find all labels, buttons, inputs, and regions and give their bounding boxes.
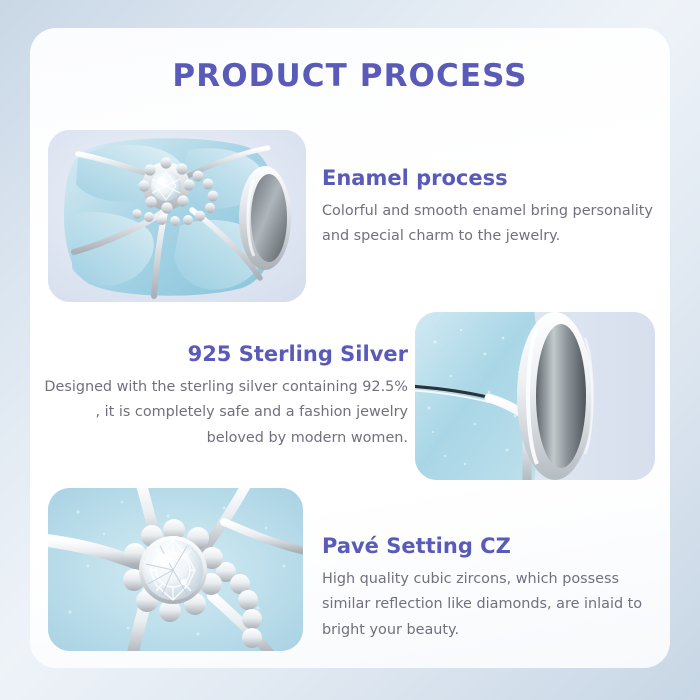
infographic-stage: PRODUCT PROCESS [0, 0, 700, 700]
heading-enamel: Enamel process [322, 166, 658, 190]
product-image-sterling-silver [415, 312, 655, 480]
body-silver: Designed with the sterling silver contai… [40, 375, 408, 451]
product-image-pave-setting-cz [48, 488, 303, 651]
section-sterling-silver: 925 Sterling Silver Designed with the st… [30, 312, 670, 494]
page-title: PRODUCT PROCESS [30, 58, 670, 94]
heading-pave: Pavé Setting CZ [322, 534, 662, 558]
text-block-enamel: Enamel process Colorful and smooth ename… [322, 166, 658, 250]
heading-silver: 925 Sterling Silver [40, 342, 408, 366]
section-pave-setting: Pavé Setting CZ High quality cubic zirco… [30, 488, 670, 668]
body-enamel: Colorful and smooth enamel bring persona… [322, 199, 658, 250]
text-block-silver: 925 Sterling Silver Designed with the st… [40, 342, 408, 451]
content-card: PRODUCT PROCESS [30, 28, 670, 668]
product-image-enamel-process [48, 130, 306, 302]
text-block-pave: Pavé Setting CZ High quality cubic zirco… [322, 534, 662, 643]
body-pave: High quality cubic zircons, which posses… [322, 567, 662, 643]
section-enamel: Enamel process Colorful and smooth ename… [30, 130, 670, 315]
